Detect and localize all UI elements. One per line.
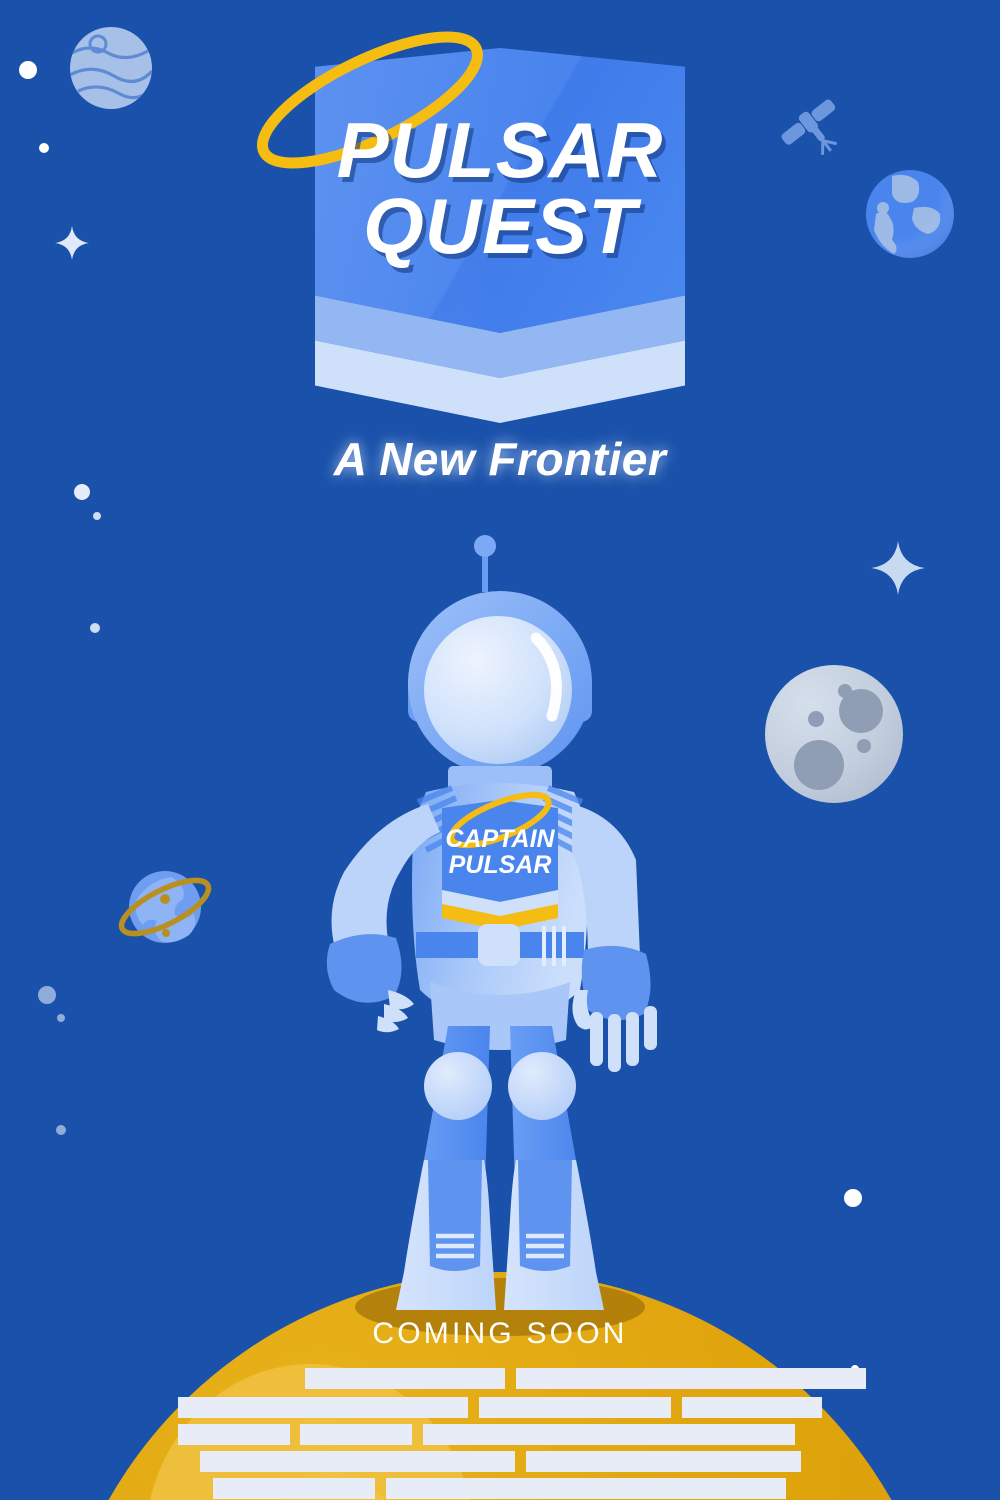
moon (765, 665, 903, 803)
logo-block: PULSAR QUEST (0, 0, 1000, 440)
chest-badge: CAPTAIN PULSAR (442, 785, 558, 930)
logo-title-line2: QUEST (0, 188, 1000, 264)
ringed-planet-icon (113, 855, 217, 959)
logo-title: PULSAR QUEST (0, 112, 1000, 265)
skeleton-bar (305, 1368, 505, 1389)
skeleton-bar (213, 1478, 375, 1499)
star-dot (57, 1014, 65, 1022)
sparkle-star-icon (871, 541, 925, 595)
moon-craters-icon (765, 665, 903, 803)
skeleton-bar (516, 1368, 866, 1389)
skeleton-bar (682, 1397, 822, 1418)
astronaut-figure: CAPTAIN PULSAR (300, 520, 700, 1310)
badge-line1: CAPTAIN (445, 825, 555, 853)
star-dot (93, 512, 101, 520)
skeleton-bar (300, 1424, 412, 1445)
star-dot (56, 1125, 66, 1135)
skeleton-bar (178, 1424, 290, 1445)
skeleton-bar (526, 1451, 801, 1472)
star-dot (844, 1189, 862, 1207)
skeleton-bar (200, 1451, 515, 1472)
logo-title-line1: PULSAR (337, 106, 664, 194)
skeleton-bar (479, 1397, 671, 1418)
ringed-planet (113, 855, 217, 959)
star-dot (38, 986, 56, 1004)
poster-subtitle: A New Frontier (0, 432, 1000, 486)
badge-line2: PULSAR (449, 851, 552, 879)
poster-canvas: PULSAR QUEST A New Frontier COMING SOON (0, 0, 1000, 1500)
star-dot (90, 623, 100, 633)
skeleton-bar (178, 1397, 468, 1418)
planet-crater (900, 1432, 950, 1500)
star-dot (74, 484, 90, 500)
skeleton-bar (386, 1478, 786, 1499)
coming-soon-label: COMING SOON (0, 1317, 1000, 1351)
skeleton-bar (423, 1424, 795, 1445)
astronaut-illustration: CAPTAIN PULSAR (300, 520, 700, 1310)
